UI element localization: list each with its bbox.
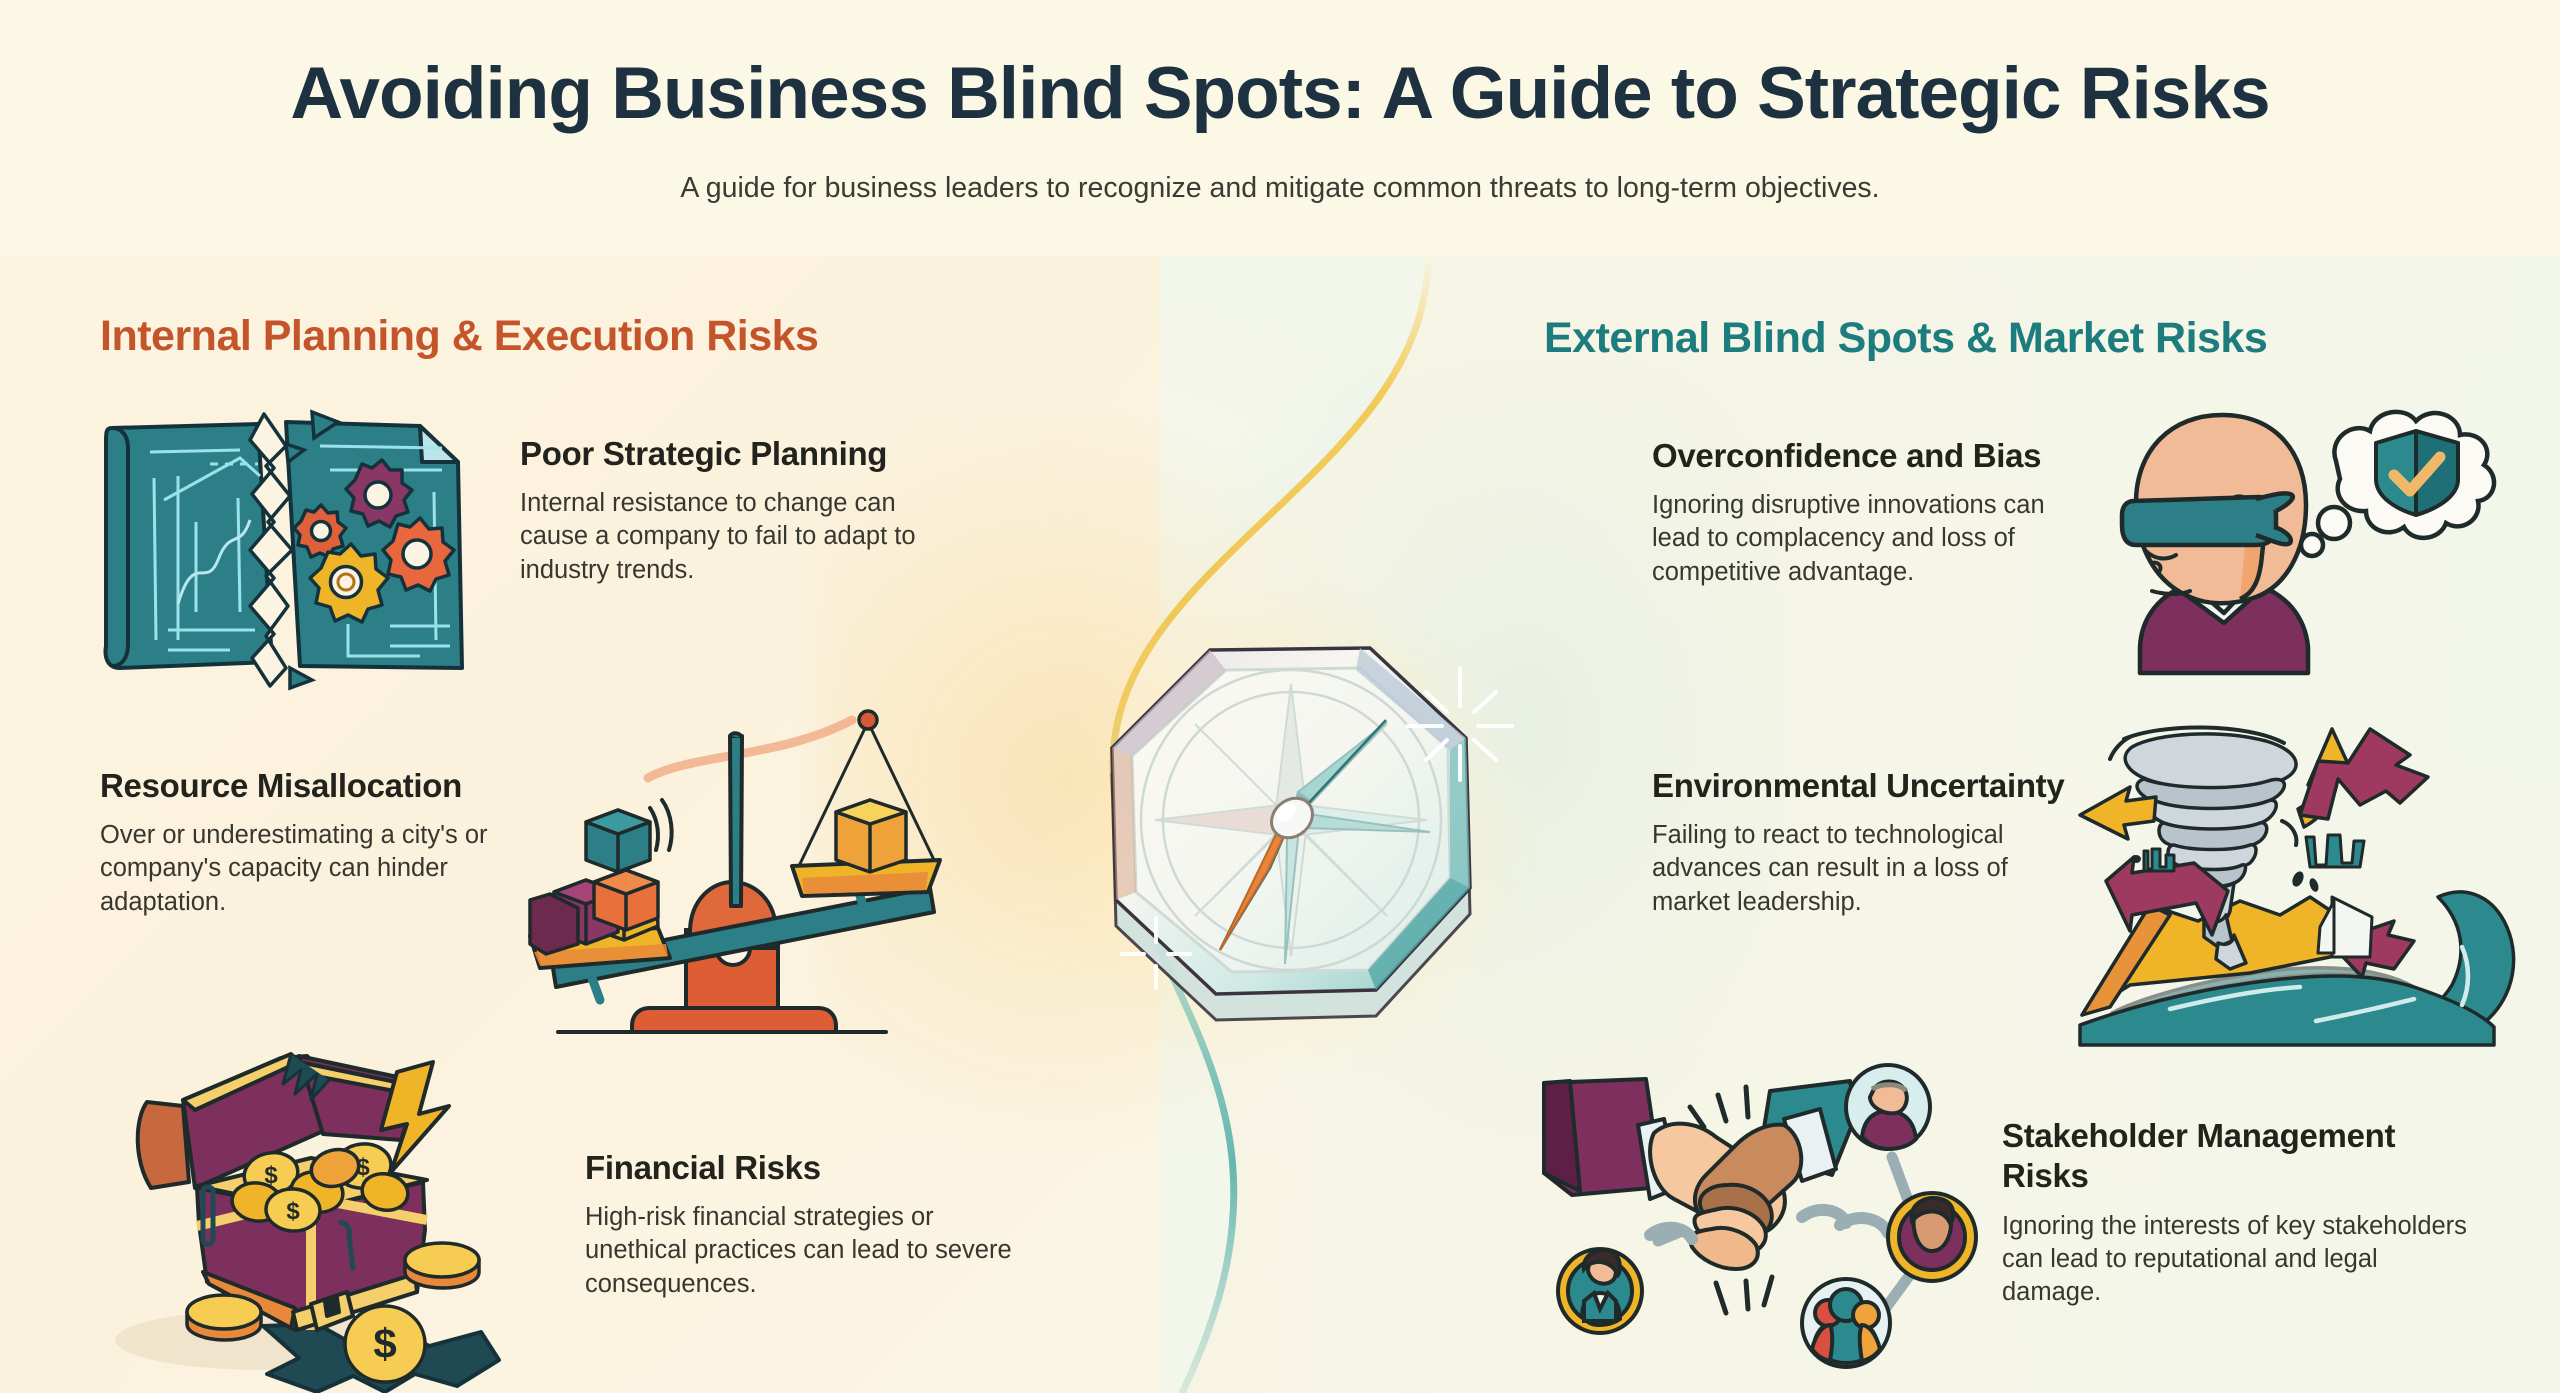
- item-stakeholder-management-risks: Stakeholder Management Risks Ignoring th…: [2002, 1116, 2472, 1309]
- item-title: Poor Strategic Planning: [520, 434, 950, 474]
- item-title: Stakeholder Management Risks: [2002, 1116, 2472, 1197]
- svg-text:$: $: [286, 1198, 300, 1225]
- page-subtitle: A guide for business leaders to recogniz…: [0, 172, 2560, 205]
- blindfolded-person-icon: [2080, 395, 2520, 675]
- item-poor-strategic-planning: Poor Strategic Planning Internal resista…: [520, 434, 950, 587]
- infographic-canvas: Avoiding Business Blind Spots: A Guide t…: [0, 0, 2560, 1393]
- unbalanced-scale-icon: [530, 700, 980, 1050]
- item-description: Ignoring the interests of key stakeholde…: [2002, 1210, 2472, 1309]
- item-title: Overconfidence and Bias: [1652, 436, 2072, 476]
- item-description: Ignoring disruptive innovations can lead…: [1652, 489, 2072, 588]
- header: Avoiding Business Blind Spots: A Guide t…: [0, 0, 2560, 256]
- handshake-network-icon: [1540, 1065, 2010, 1393]
- item-environmental-uncertainty: Environmental Uncertainty Failing to rea…: [1652, 766, 2072, 919]
- item-description: Failing to react to technological advanc…: [1652, 819, 2072, 918]
- page-title: Avoiding Business Blind Spots: A Guide t…: [0, 52, 2560, 135]
- item-title: Resource Misallocation: [100, 766, 500, 806]
- svg-text:$: $: [373, 1320, 396, 1367]
- glass-compass-icon: [1030, 570, 1550, 1090]
- torn-blueprint-gears-icon: [90, 400, 490, 690]
- left-section-heading: Internal Planning & Execution Risks: [100, 312, 818, 361]
- item-description: Internal resistance to change can cause …: [520, 487, 950, 586]
- item-overconfidence-and-bias: Overconfidence and Bias Ignoring disrupt…: [1652, 436, 2072, 589]
- item-resource-misallocation: Resource Misallocation Over or underesti…: [100, 766, 500, 919]
- item-description: High-risk financial strategies or unethi…: [585, 1201, 1015, 1300]
- svg-text:$: $: [356, 1154, 370, 1181]
- tornado-wave-icon: [2070, 725, 2540, 1055]
- item-title: Environmental Uncertainty: [1652, 766, 2072, 806]
- right-section-heading: External Blind Spots & Market Risks: [1544, 314, 2267, 363]
- item-title: Financial Risks: [585, 1148, 1015, 1188]
- item-financial-risks: Financial Risks High-risk financial stra…: [585, 1148, 1015, 1301]
- cracked-treasure-chest-icon: $$$ $: [85, 1040, 565, 1393]
- item-description: Over or underestimating a city's or comp…: [100, 819, 500, 918]
- svg-text:$: $: [264, 1162, 278, 1189]
